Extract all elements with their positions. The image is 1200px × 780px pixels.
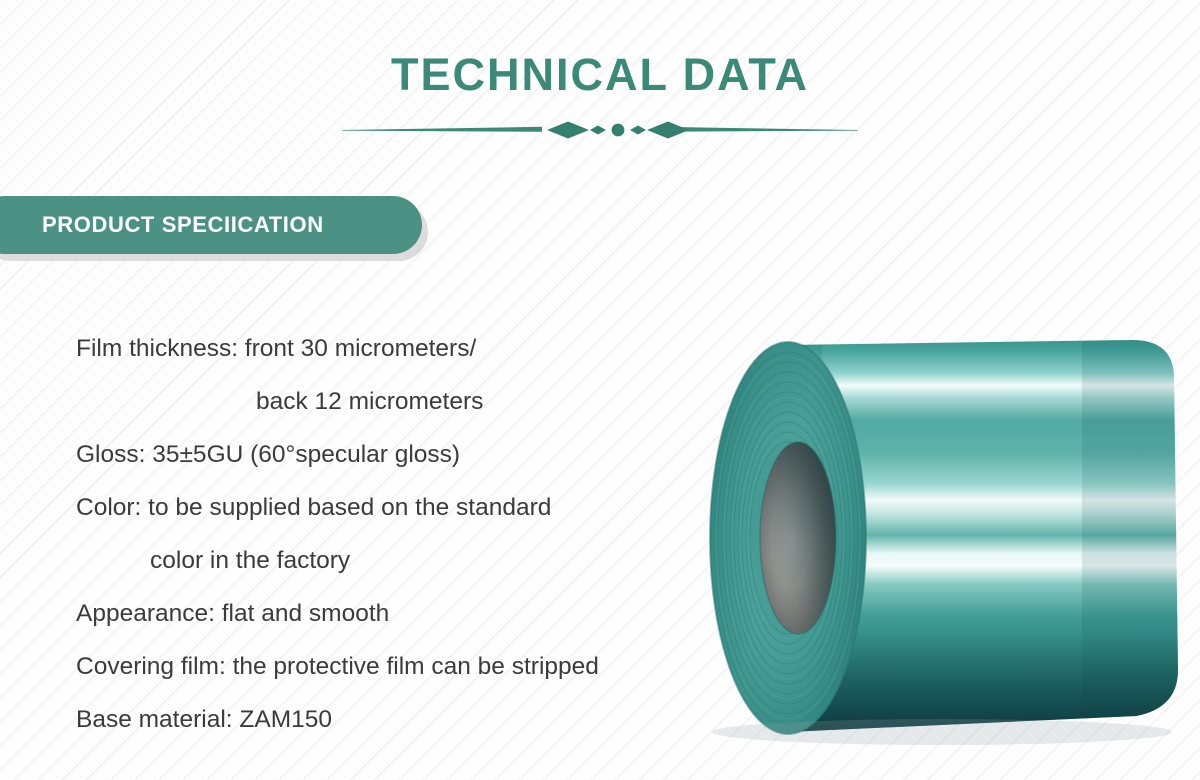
product-specification-banner: PRODUCT SPECIICATION [0, 196, 428, 256]
banner-body: PRODUCT SPECIICATION [0, 196, 422, 254]
page-title: TECHNICAL DATA [0, 52, 1200, 97]
technical-data-page: TECHNICAL DATA PRODUCT SPECIICATION F [0, 0, 1200, 780]
spec-line: Appearance: flat and smooth [76, 587, 656, 640]
spec-line: color in the factory [76, 534, 656, 587]
spec-line: Gloss: 35±5GU (60°specular gloss) [76, 428, 656, 481]
spec-line: Color: to be supplied based on the stand… [76, 481, 656, 534]
diamond-divider-ornament [342, 120, 858, 140]
spec-line: Covering film: the protective film can b… [76, 640, 656, 693]
prepainted-steel-coil-image [612, 300, 1200, 770]
spec-line: back 12 micrometers [76, 375, 656, 428]
spec-line: Film thickness: front 30 micrometers/ [76, 322, 656, 375]
spec-line: Base material: ZAM150 [76, 693, 656, 746]
title-block: TECHNICAL DATA [0, 52, 1200, 97]
banner-label: PRODUCT SPECIICATION [42, 212, 324, 238]
specification-list: Film thickness: front 30 micrometers/ ba… [76, 322, 656, 746]
